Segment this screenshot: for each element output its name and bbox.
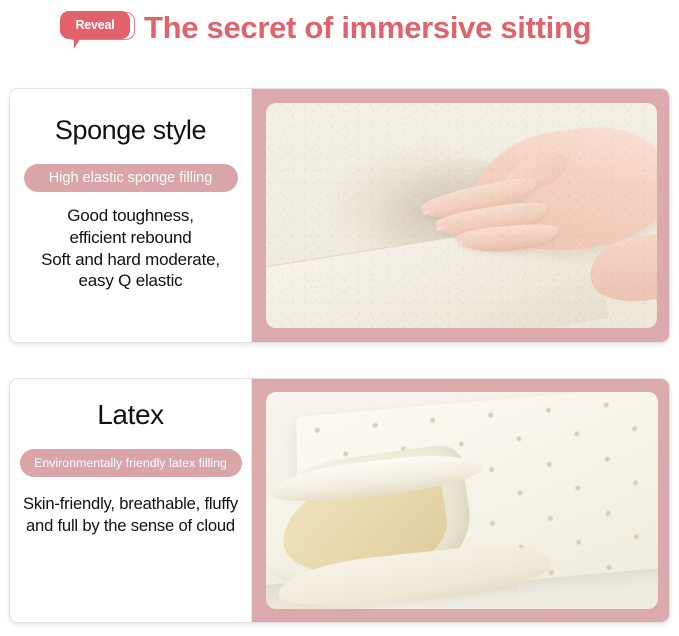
card-title: Latex [97, 401, 164, 429]
card-description: Skin-friendly, breathable, fluffy and fu… [23, 493, 238, 536]
card-text-pane: Sponge style High elastic sponge filling… [10, 89, 252, 342]
card-pill-badge: High elastic sponge filling [24, 164, 238, 192]
hand-pressing-sponge-foam-photo [266, 103, 657, 328]
card-title: Sponge style [55, 117, 206, 144]
card-pill-badge: Environmentally friendly latex filling [20, 449, 242, 477]
curled-perforated-latex-sheet-photo [266, 392, 658, 609]
card-photo-frame [252, 379, 669, 622]
hand-graphic [415, 130, 657, 270]
card-description: Good toughness, efficient rebound Soft a… [41, 205, 220, 292]
page-title: The secret of immersive sitting [144, 6, 591, 50]
reveal-badge-label: Reveal [75, 19, 114, 32]
page-header: Reveal The secret of immersive sitting [0, 0, 679, 72]
card-text-pane: Latex Environmentally friendly latex fil… [10, 379, 252, 622]
reveal-badge-bubble: Reveal [60, 11, 130, 39]
feature-card-latex: Latex Environmentally friendly latex fil… [9, 378, 670, 623]
feature-card-sponge: Sponge style High elastic sponge filling… [9, 88, 670, 343]
fingernail [435, 224, 446, 232]
fingernail [421, 207, 432, 216]
reveal-badge: Reveal [60, 11, 130, 39]
card-photo-frame [252, 89, 669, 342]
fingernail [456, 239, 466, 246]
